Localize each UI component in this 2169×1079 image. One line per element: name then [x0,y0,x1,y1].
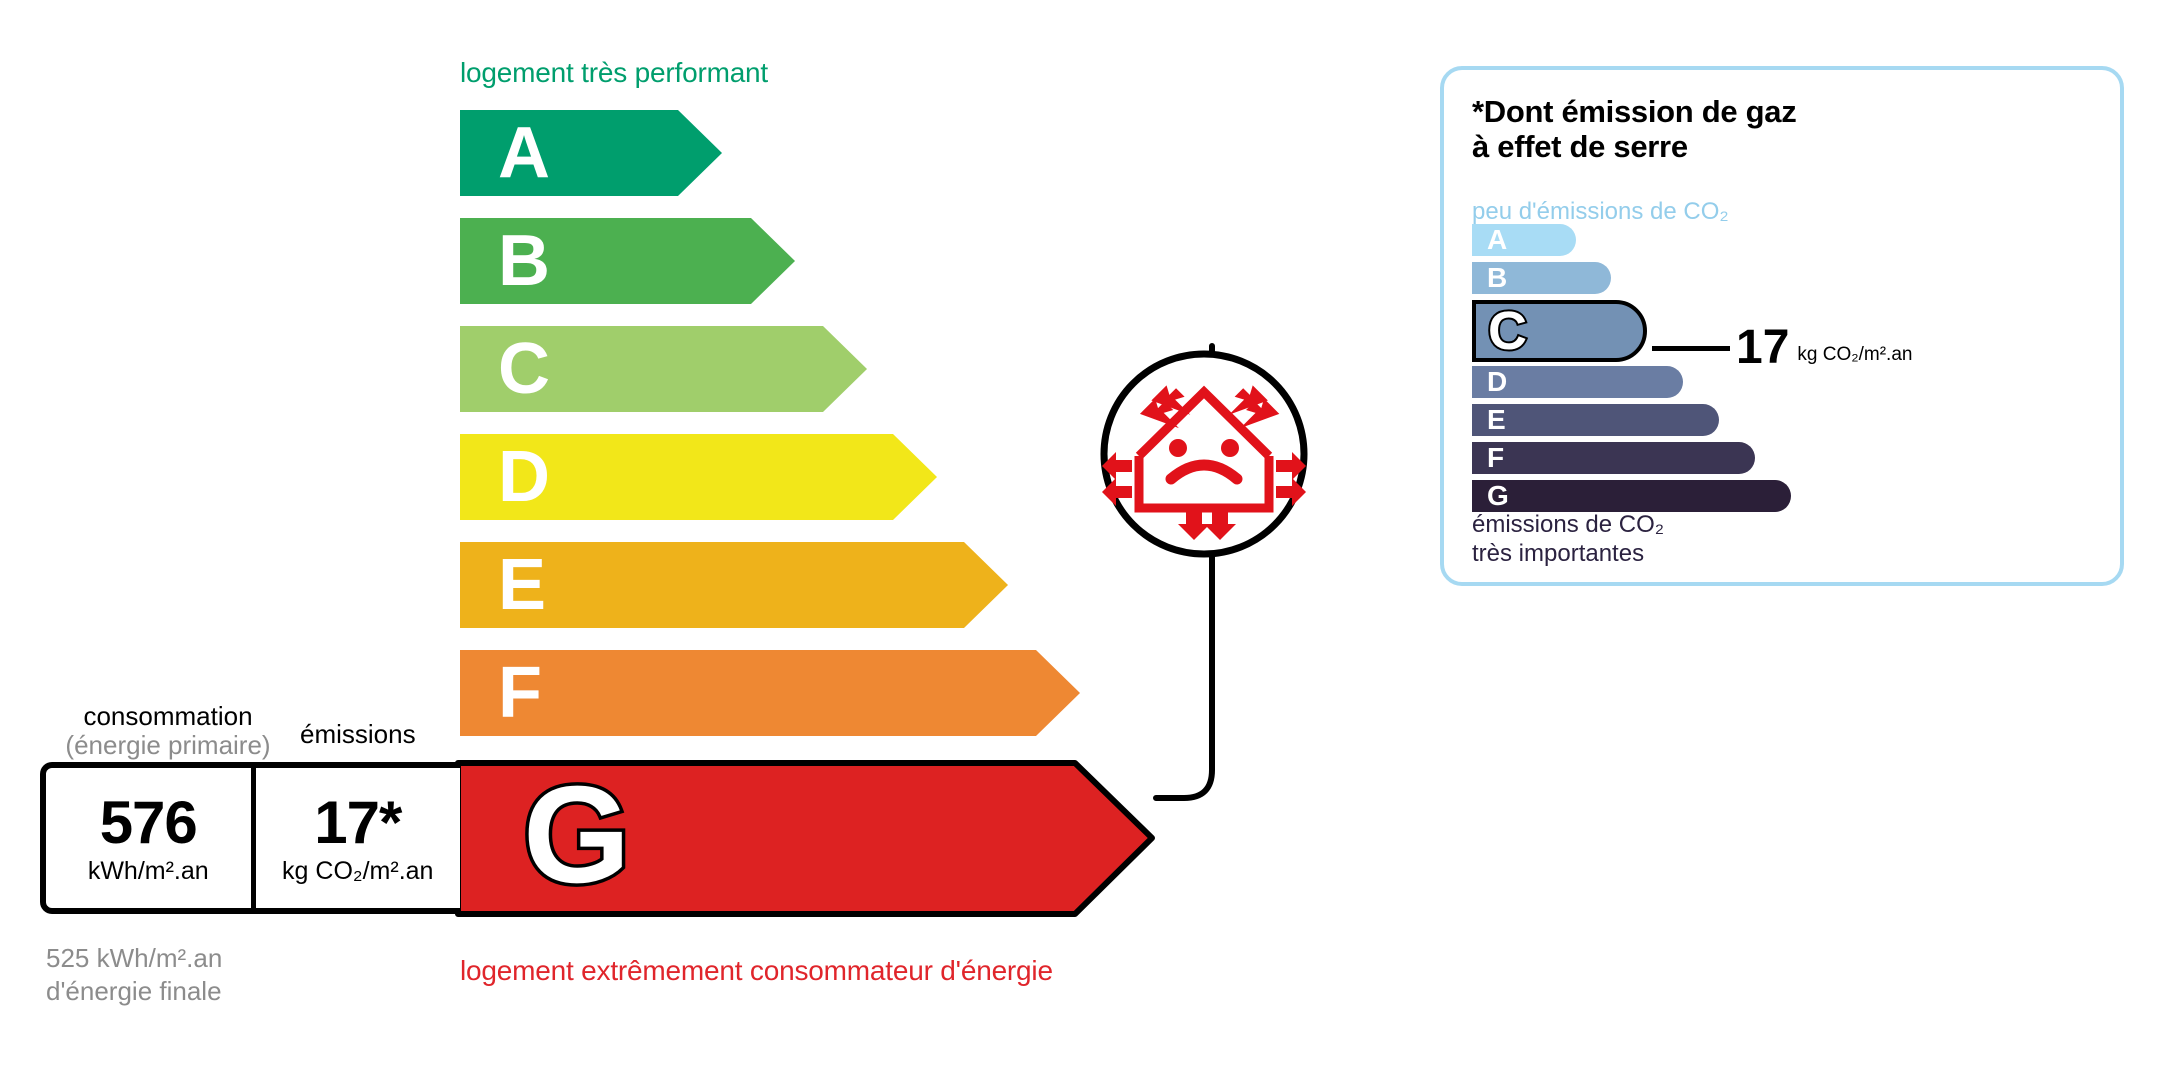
energy-bar-b: B [460,218,795,304]
co2-bar-b: B [1472,262,1611,294]
co2-bar-g: G [1472,480,1791,512]
consumption-header-main: consommation [83,701,252,731]
final-energy-line1: 525 kWh/m².an [46,942,222,975]
energy-bar-e: E [460,542,1008,628]
energy-bar-c-letter: C [498,326,550,412]
emission-unit: kg CO₂/m².an [282,859,433,884]
co2-title-line2: à effet de serre [1472,129,1796,164]
value-box: 576 kWh/m².an 17* kg CO₂/m².an [40,762,460,914]
final-energy-line2: d'énergie finale [46,975,222,1008]
co2-panel: *Dont émission de gaz à effet de serre p… [1440,66,2124,586]
co2-bar-a-letter: A [1487,226,1507,254]
co2-bottom-caption-line1: émissions de CO₂ [1472,510,1664,539]
emissions-header: émissions [300,720,416,749]
energy-bar-g-current: G [455,760,1155,917]
co2-bottom-caption: émissions de CO₂ très importantes [1472,510,1664,569]
energy-bar-d: D [460,434,937,520]
emission-value: 17* [314,793,401,853]
co2-callout-value: 17 [1736,324,1789,372]
svg-text:G: G [523,758,630,912]
energy-performance-scale: logement très performant A B C D E F G c… [0,0,1340,1079]
co2-bar-f-letter: F [1487,444,1504,472]
co2-bar-e: E [1472,404,1719,436]
co2-callout: 17 kg CO₂/m².an [1652,324,1912,372]
co2-bottom-caption-line2: très importantes [1472,539,1664,568]
energy-bar-a: A [460,110,722,196]
co2-top-caption: peu d'émissions de CO₂ [1472,198,1729,226]
co2-panel-title: *Dont émission de gaz à effet de serre [1472,94,1796,164]
consumption-value: 576 [100,793,197,853]
co2-bar-f: F [1472,442,1755,474]
co2-callout-leader-line [1652,346,1730,351]
co2-bar-d-letter: D [1487,368,1507,396]
energy-bar-f-letter: F [498,650,542,736]
consumption-unit: kWh/m².an [88,859,209,884]
sad-house-icon [1098,348,1310,560]
co2-bar-g-letter: G [1487,482,1509,510]
final-energy-note: 525 kWh/m².an d'énergie finale [46,942,222,1007]
emission-value-cell: 17* kg CO₂/m².an [256,768,461,908]
co2-bar-a: A [1472,224,1576,256]
energy-bar-e-letter: E [498,542,546,628]
consumption-header-sub: (énergie primaire) [38,731,298,760]
co2-title-line1: *Dont émission de gaz [1472,94,1796,129]
energy-bar-f: F [460,650,1080,736]
consumption-value-cell: 576 kWh/m².an [46,768,256,908]
energy-bar-d-letter: D [498,434,550,520]
energy-bar-b-letter: B [498,218,550,304]
consumption-header: consommation (énergie primaire) [38,702,298,760]
co2-bar-c-letter: C [1488,304,1527,358]
energy-bar-a-letter: A [498,110,550,196]
co2-bar-b-letter: B [1487,264,1507,292]
scale-bottom-caption: logement extrêmement consommateur d'éner… [460,955,1053,987]
co2-bar-e-letter: E [1487,406,1506,434]
scale-top-caption: logement très performant [460,57,768,89]
co2-callout-unit: kg CO₂/m².an [1797,344,1912,366]
energy-bar-c: C [460,326,867,412]
co2-bar-c-current: C [1472,300,1647,362]
